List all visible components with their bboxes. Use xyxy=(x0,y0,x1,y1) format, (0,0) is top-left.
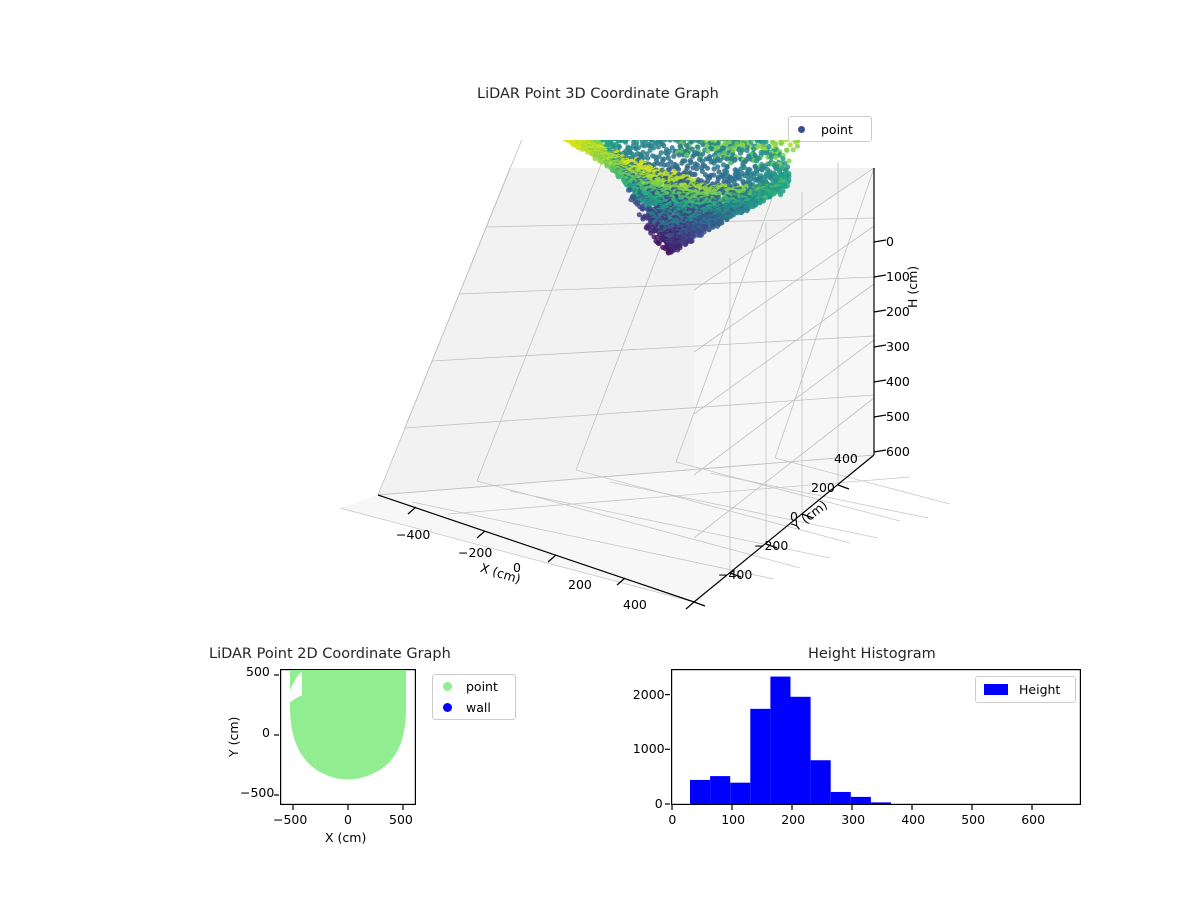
ytick-3d-0: −400 xyxy=(718,567,752,582)
histogram-bar xyxy=(730,783,750,804)
ztick-3d-5: 500 xyxy=(886,409,910,424)
histogram-bar xyxy=(690,780,710,804)
zaxis-ticks-3d xyxy=(874,240,886,452)
histogram-xtick-label: 400 xyxy=(901,812,925,827)
legend-item-point-2d: point xyxy=(433,676,515,697)
wall-marker-icon xyxy=(443,703,452,712)
plot2d-legend: point wall xyxy=(432,674,516,720)
plot2d-yticks xyxy=(274,669,280,805)
histogram-legend: Height xyxy=(975,676,1076,703)
histogram-bar xyxy=(871,802,891,804)
point-marker-icon xyxy=(443,682,452,691)
legend-item-point: point xyxy=(789,117,871,141)
plot2d-xticks xyxy=(280,805,416,811)
xtick-2d-2: 500 xyxy=(389,812,413,827)
xtick-2d-1: 0 xyxy=(344,812,352,827)
histogram-bar xyxy=(710,776,730,804)
histogram-ytick-label: 0 xyxy=(655,796,663,811)
ztick-3d-6: 600 xyxy=(886,444,910,459)
ztick-3d-4: 400 xyxy=(886,374,910,389)
histogram-ytick-label: 2000 xyxy=(633,687,665,702)
ztick-3d-0: 0 xyxy=(886,234,894,249)
legend-label: point xyxy=(821,122,853,137)
ytick-2d-0: 500 xyxy=(246,664,270,679)
histogram-xtick-label: 600 xyxy=(1021,812,1045,827)
xtick-3d-1: −200 xyxy=(458,545,492,560)
histogram-bar xyxy=(770,677,790,804)
ytick-3d-4: 400 xyxy=(834,451,858,466)
histogram-bar xyxy=(791,697,811,804)
histogram-xtick-label: 500 xyxy=(961,812,985,827)
histogram-yticks xyxy=(665,669,671,805)
point-marker-icon xyxy=(798,126,805,133)
ytick-2d-2: −500 xyxy=(240,785,274,800)
xtick-3d-4: 400 xyxy=(623,597,647,612)
plot3d-legend: point xyxy=(788,116,872,142)
histogram-xtick-label: 300 xyxy=(841,812,865,827)
histogram-bar xyxy=(831,792,851,804)
plot3d-title: LiDAR Point 3D Coordinate Graph xyxy=(477,86,719,102)
height-color-swatch xyxy=(984,684,1008,695)
legend-item-height: Height xyxy=(976,677,1075,702)
histogram-xtick-label: 200 xyxy=(781,812,805,827)
legend-label: wall xyxy=(466,700,491,715)
legend-label: Height xyxy=(1019,682,1060,697)
legend-label: point xyxy=(466,679,498,694)
xtick-3d-3: 200 xyxy=(568,577,592,592)
histogram-xtick-label: 0 xyxy=(668,812,676,827)
histogram-bar xyxy=(750,709,770,804)
ytick-3d-1: −200 xyxy=(754,538,788,553)
histogram-ytick-label: 1000 xyxy=(633,741,665,756)
xtick-2d-0: −500 xyxy=(273,812,307,827)
histogram-xtick-label: 100 xyxy=(721,812,745,827)
plot2d-title: LiDAR Point 2D Coordinate Graph xyxy=(209,646,451,662)
histogram-bar xyxy=(811,760,831,804)
plot3d-canvas xyxy=(330,140,950,640)
legend-item-wall-2d: wall xyxy=(433,697,515,718)
yaxis-label-2d: Y (cm) xyxy=(226,717,241,757)
ytick-3d-3: 200 xyxy=(811,480,835,495)
matplotlib-figure: LiDAR Point 3D Coordinate Graph point xyxy=(0,0,1200,900)
zaxis-label-3d: H (cm) xyxy=(905,266,920,308)
histogram-title: Height Histogram xyxy=(808,646,936,662)
ztick-3d-3: 300 xyxy=(886,339,910,354)
xaxis-label-2d: X (cm) xyxy=(325,830,366,845)
plot2d-canvas xyxy=(280,669,416,805)
xtick-3d-0: −400 xyxy=(396,527,430,542)
ytick-2d-1: 0 xyxy=(262,725,270,740)
histogram-bar xyxy=(851,797,871,804)
histogram-xticks xyxy=(671,805,1081,811)
